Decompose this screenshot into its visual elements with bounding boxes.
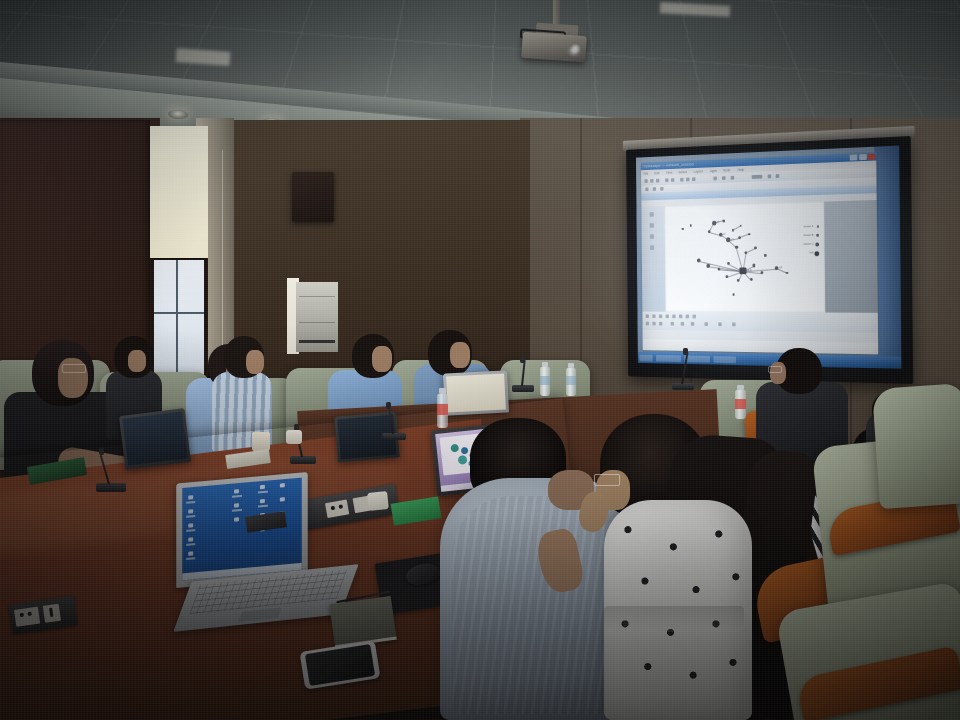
graph-node[interactable] (738, 236, 741, 239)
maximize-button[interactable] (859, 154, 867, 160)
graph-node[interactable] (748, 233, 750, 236)
graph-node-label: g4 (779, 267, 782, 270)
menu-help[interactable]: Help (738, 167, 745, 171)
legend-swatch (815, 251, 819, 256)
menu-select[interactable]: Select (678, 170, 686, 174)
select-icon[interactable] (768, 174, 772, 178)
water-bottle[interactable] (540, 362, 550, 396)
analyze-icon[interactable] (731, 176, 735, 180)
water-bottle[interactable] (437, 388, 448, 428)
wall-speaker (292, 172, 334, 222)
projected-app-window: Cytoscape — network_session File Edit Vi… (641, 153, 878, 355)
graph-node[interactable] (764, 254, 766, 257)
glasses-icon (594, 474, 620, 486)
graph-node[interactable] (682, 228, 684, 231)
legend-swatch (817, 225, 819, 227)
floor-cabinet (296, 282, 338, 352)
microphone[interactable] (96, 448, 126, 492)
menu-file[interactable]: File (644, 171, 649, 175)
start-button[interactable] (639, 354, 652, 361)
legend-swatch (815, 243, 819, 247)
graph-node[interactable] (712, 221, 716, 226)
window (150, 126, 208, 376)
legend-label: cluster A (804, 224, 814, 228)
app-sidebar (641, 206, 665, 311)
screen-surface: Cytoscape — network_session File Edit Vi… (636, 146, 901, 369)
microphone[interactable] (382, 402, 406, 440)
zoom-out-icon[interactable] (686, 178, 689, 182)
undo-icon[interactable] (665, 178, 668, 182)
legend-label: cluster C (803, 242, 813, 246)
graph-node[interactable] (735, 246, 738, 249)
graph-canvas[interactable]: g1g2g3HUBg4cluster Acluster Bcluster Chu… (665, 202, 826, 313)
fit-icon[interactable] (692, 177, 695, 181)
graph-node[interactable] (745, 251, 748, 254)
projector-status-light (570, 48, 578, 54)
projected-desktop-right (874, 146, 901, 369)
legend-swatch (816, 234, 819, 237)
laptop-screen (446, 374, 506, 413)
layout-icon[interactable] (713, 176, 716, 180)
conference-room-photo: Cytoscape — network_session File Edit Vi… (0, 0, 960, 720)
node-tool-icon[interactable] (645, 187, 648, 191)
legend-label: hub (809, 250, 813, 254)
menu-view[interactable]: View (666, 170, 672, 174)
water-bottle[interactable] (735, 385, 746, 419)
zoom-in-icon[interactable] (680, 178, 683, 182)
redo-icon[interactable] (671, 178, 674, 182)
laptop-screen (182, 478, 302, 581)
app-statusbar (643, 330, 879, 343)
graph-node[interactable] (722, 219, 725, 222)
graph-node[interactable] (737, 279, 740, 282)
graph-node[interactable] (785, 271, 788, 274)
style-dropdown[interactable] (752, 175, 763, 179)
menu-tools[interactable]: Tools (723, 168, 730, 172)
graph-node[interactable] (732, 294, 734, 296)
window-glass (154, 260, 204, 376)
roller-blind[interactable] (150, 126, 208, 258)
peplum-ruffle (604, 606, 744, 632)
notebook[interactable] (329, 596, 397, 648)
glasses-icon (768, 366, 782, 373)
taskbar-item[interactable] (713, 356, 736, 363)
graph-node-label: HUB (747, 269, 752, 272)
open-icon[interactable] (650, 179, 653, 183)
app-title: Cytoscape — network_session (643, 161, 693, 168)
graph-node[interactable] (754, 247, 756, 250)
graph-node[interactable] (726, 275, 728, 278)
filter-icon[interactable] (722, 176, 726, 180)
graph-node[interactable] (740, 224, 742, 227)
microphone[interactable] (512, 356, 534, 392)
style-panel-icon[interactable] (650, 234, 654, 239)
pan-icon[interactable] (776, 174, 780, 178)
projection-screen: Cytoscape — network_session File Edit Vi… (626, 136, 913, 384)
menu-edit[interactable]: Edit (654, 171, 659, 175)
graph-node-label: g1 (717, 221, 720, 224)
graph-node[interactable] (750, 278, 753, 281)
save-icon[interactable] (656, 179, 659, 183)
results-panel-icon[interactable] (650, 245, 654, 250)
close-button[interactable] (868, 154, 876, 160)
legend-label: cluster B (803, 233, 813, 237)
blind-cord[interactable] (222, 150, 223, 350)
edge-tool-icon[interactable] (653, 187, 656, 191)
ceiling-vent-icon (66, 20, 86, 29)
graph-node[interactable] (719, 233, 722, 237)
graph-node[interactable] (726, 238, 730, 242)
menu-layout[interactable]: Layout (694, 169, 703, 173)
laptop-screen (122, 412, 187, 466)
armchair[interactable] (872, 383, 960, 509)
canvas-right-gutter (824, 200, 878, 313)
phone-screen (305, 644, 374, 685)
white-item[interactable] (367, 491, 389, 511)
graph-node[interactable] (690, 225, 692, 227)
network-panel-icon[interactable] (650, 212, 654, 217)
graph-node-label: g3 (731, 238, 734, 241)
new-icon[interactable] (644, 179, 647, 183)
graph-node[interactable] (707, 264, 710, 267)
paper-cup[interactable] (286, 430, 302, 444)
table-panel-icon[interactable] (650, 223, 654, 228)
text-tool-icon[interactable] (660, 187, 663, 191)
menu-apps[interactable]: Apps (710, 168, 717, 172)
graph-node[interactable] (697, 259, 700, 262)
graph-node[interactable] (753, 264, 756, 267)
graph-node[interactable] (740, 268, 746, 275)
microphone[interactable] (672, 348, 694, 390)
water-bottle[interactable] (566, 363, 576, 396)
glasses-icon (62, 364, 86, 373)
projector-body (521, 32, 587, 62)
graph-node-label: g2 (723, 233, 726, 236)
minimize-button[interactable] (850, 154, 858, 160)
